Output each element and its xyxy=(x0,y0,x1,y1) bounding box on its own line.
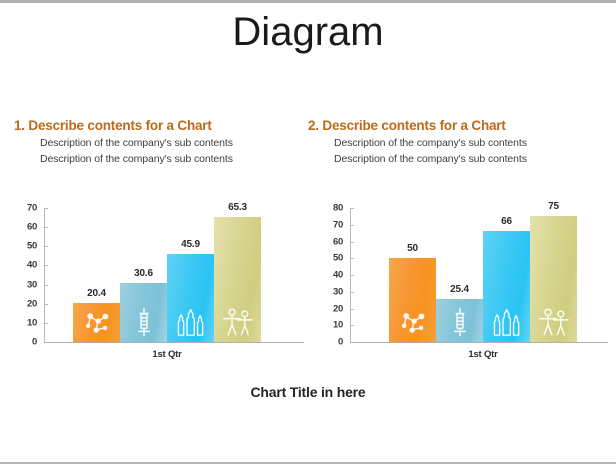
chart-1-category-label: 1st Qtr xyxy=(73,349,261,360)
y-tick-label: 40 xyxy=(333,270,343,281)
y-tick-label: 70 xyxy=(333,219,343,230)
bar-value-label: 25.4 xyxy=(450,284,469,295)
y-tick-label: 0 xyxy=(338,337,343,348)
molecule-icon xyxy=(80,305,114,339)
chart-1-bar-2[interactable]: 30.6 xyxy=(120,283,167,342)
y-tick-label: 70 xyxy=(27,203,37,214)
syringe-icon xyxy=(127,305,161,339)
chart-1-bar-group: 20.430.645.965.3 xyxy=(73,208,261,342)
bar-value-label: 20.4 xyxy=(87,288,106,299)
bar-value-label: 66 xyxy=(501,216,512,227)
y-tick-label: 60 xyxy=(27,222,37,233)
chart-1-y-axis-labels: 010203040506070 xyxy=(14,208,44,342)
bottles-icon xyxy=(490,305,524,339)
bar-value-label: 65.3 xyxy=(228,202,247,213)
section-1-subline-2: Description of the company's sub content… xyxy=(14,153,304,165)
bottles-icon xyxy=(174,305,208,339)
syringe-icon xyxy=(443,305,477,339)
chart-2-y-axis-labels: 01020304050607080 xyxy=(308,208,350,342)
section-2-subline-2: Description of the company's sub content… xyxy=(308,153,608,165)
bar-value-label: 50 xyxy=(407,243,418,254)
chart-2-bar-4[interactable]: 75 xyxy=(530,216,577,342)
bar-value-label: 30.6 xyxy=(134,268,153,279)
chart-1-y-axis-line xyxy=(44,208,45,343)
chart-2-x-axis-line xyxy=(350,342,608,343)
chart-1-plot-area: 01020304050607020.430.645.965.31st Qtr xyxy=(14,208,304,368)
molecule-icon xyxy=(396,305,430,339)
chart-1-bar-1[interactable]: 20.4 xyxy=(73,303,120,342)
chart-2-bar-group: 5025.46675 xyxy=(389,208,577,342)
chart-1-x-axis-line xyxy=(44,342,304,343)
section-2-heading: 2. Describe contents for a Chart xyxy=(308,118,608,133)
y-tick-label: 40 xyxy=(27,260,37,271)
y-tick-label: 30 xyxy=(333,286,343,297)
section-1-subline-1: Description of the company's sub content… xyxy=(14,137,304,149)
y-tick-label: 0 xyxy=(32,337,37,348)
people-icon xyxy=(221,305,255,339)
y-tick-label: 30 xyxy=(27,279,37,290)
chart-2[interactable]: 010203040506070805025.466751st Qtr xyxy=(308,208,608,368)
page-title: Diagram xyxy=(0,10,616,55)
y-tick-label: 20 xyxy=(27,298,37,309)
bar-value-label: 75 xyxy=(548,201,559,212)
y-tick-label: 80 xyxy=(333,203,343,214)
chart-2-bar-3[interactable]: 66 xyxy=(483,231,530,342)
section-2-subline-1: Description of the company's sub content… xyxy=(308,137,608,149)
chart-1-bar-4[interactable]: 65.3 xyxy=(214,217,261,342)
section-2: 2. Describe contents for a Chart Descrip… xyxy=(308,118,608,165)
chart-1-bar-3[interactable]: 45.9 xyxy=(167,254,214,342)
bottom-edge-bar xyxy=(0,462,616,464)
bar-value-label: 45.9 xyxy=(181,239,200,250)
chart-2-plot-area: 010203040506070805025.466751st Qtr xyxy=(308,208,608,368)
chart-2-bar-1[interactable]: 50 xyxy=(389,258,436,342)
chart-2-y-axis-line xyxy=(350,208,351,343)
chart-1[interactable]: 01020304050607020.430.645.965.31st Qtr xyxy=(14,208,304,368)
y-tick-label: 60 xyxy=(333,236,343,247)
people-icon xyxy=(537,305,571,339)
y-tick-label: 10 xyxy=(333,320,343,331)
y-tick-label: 10 xyxy=(27,317,37,328)
y-tick-label: 50 xyxy=(333,253,343,264)
y-tick-label: 20 xyxy=(333,303,343,314)
chart-2-bar-2[interactable]: 25.4 xyxy=(436,299,483,342)
section-1-heading: 1. Describe contents for a Chart xyxy=(14,118,304,133)
chart-caption: Chart Title in here xyxy=(0,384,616,400)
chart-2-category-label: 1st Qtr xyxy=(389,349,577,360)
y-tick-label: 50 xyxy=(27,241,37,252)
section-1: 1. Describe contents for a Chart Descrip… xyxy=(14,118,304,165)
top-edge-bar xyxy=(0,0,616,3)
